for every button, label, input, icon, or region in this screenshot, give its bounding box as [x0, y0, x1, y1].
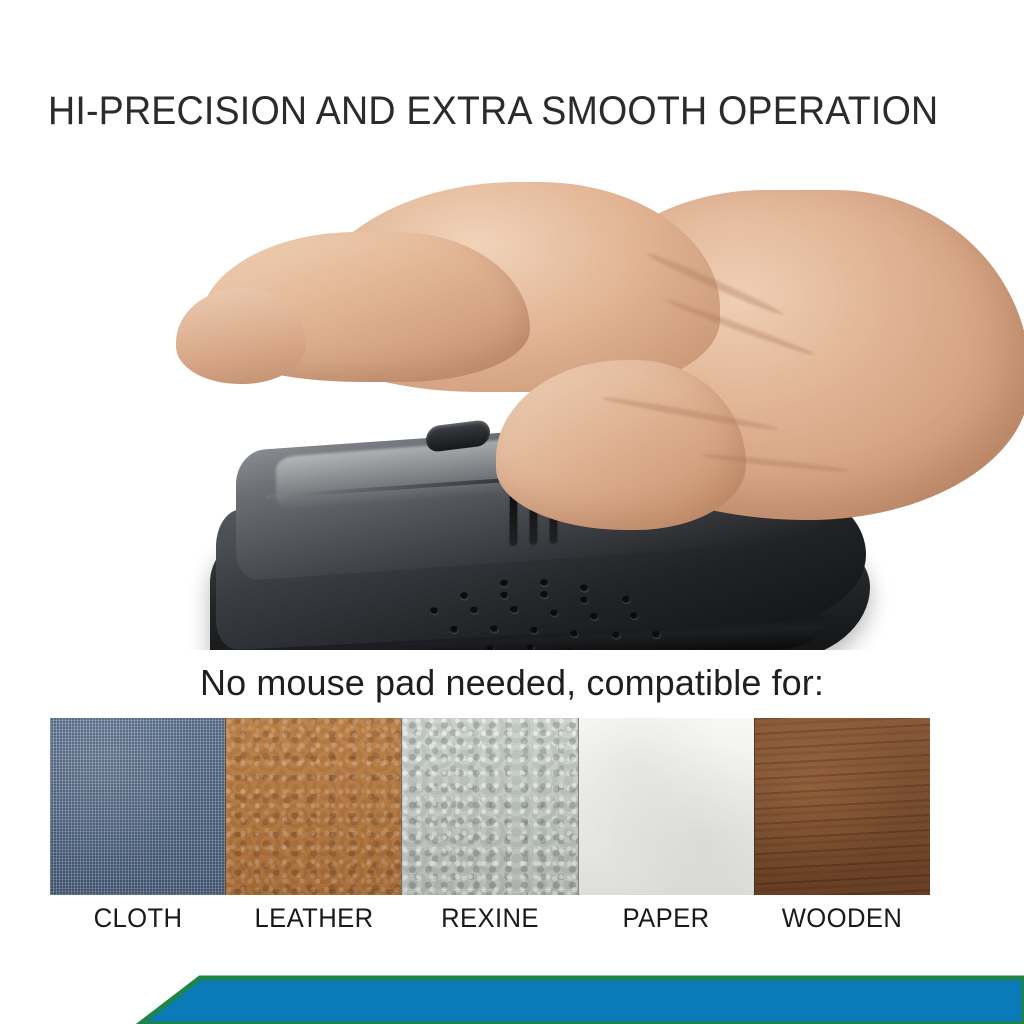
- banner-shape: [0, 970, 1024, 1024]
- section-subtitle: No mouse pad needed, compatible for:: [0, 662, 1024, 704]
- human-hand: [0, 160, 1024, 650]
- swatch-paper: [578, 718, 754, 895]
- index-fingertip: [176, 288, 306, 384]
- swatch-label-leather: LEATHER: [230, 903, 397, 943]
- swatch-label-wooden: WOODEN: [758, 903, 925, 943]
- swatch-leather: [225, 718, 401, 895]
- swatch-label-cloth: CLOTH: [54, 903, 221, 943]
- swatch-label-paper: PAPER: [582, 903, 749, 943]
- swatch-rexine: [401, 718, 577, 895]
- bottom-accent-banner: [0, 970, 1024, 1024]
- swatch-cloth: [50, 718, 225, 895]
- surface-label-row: CLOTH LEATHER REXINE PAPER WOODEN: [50, 903, 930, 943]
- product-feature-image: HI-PRECISION AND EXTRA SMOOTH OPERATION: [0, 0, 1024, 1024]
- hero-product-photo: [0, 160, 1024, 650]
- surface-swatch-row: [50, 718, 930, 895]
- swatch-label-rexine: REXINE: [406, 903, 573, 943]
- swatch-wooden: [754, 718, 930, 895]
- page-title: HI-PRECISION AND EXTRA SMOOTH OPERATION: [48, 88, 922, 134]
